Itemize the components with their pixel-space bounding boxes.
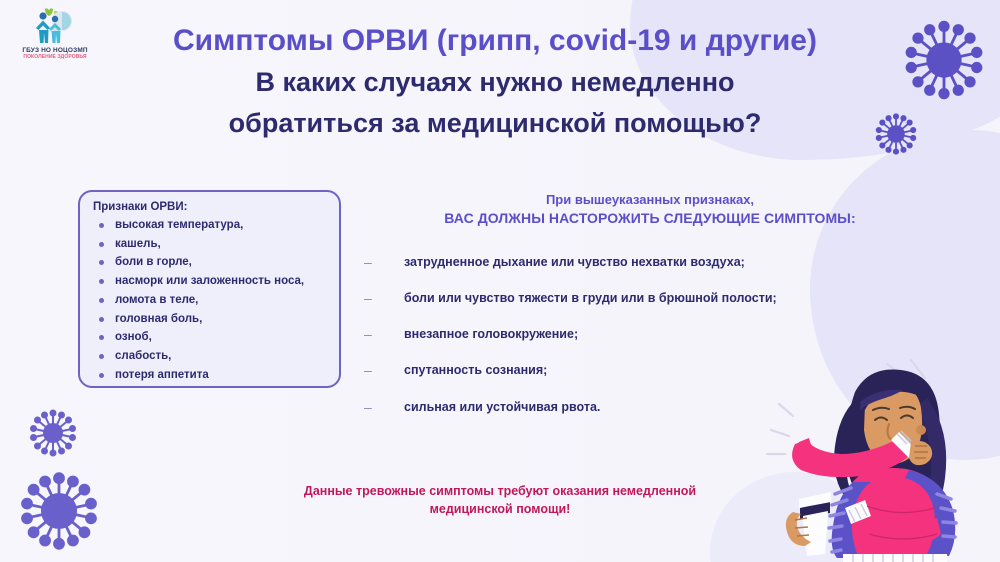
virus-icon — [874, 112, 918, 161]
list-item: внезапное головокружение; — [360, 325, 888, 343]
list-item: сильная или устойчивая рвота. — [360, 398, 888, 416]
list-item: слабость, — [93, 347, 327, 366]
health-family-logo-icon — [12, 6, 98, 46]
page-subtitle-line-2: обратиться за медицинской помощью? — [95, 106, 895, 142]
list-item: насморк или заложенность носа, — [93, 272, 327, 291]
symptoms-list: высокая температура, кашель, боли в горл… — [93, 216, 327, 385]
list-item: ломота в теле, — [93, 291, 327, 310]
list-item: боли или чувство тяжести в груди или в б… — [360, 289, 888, 307]
organization-logo: ГБУЗ НО НОЦОЗМП ПОКОЛЕНИЕ ЗДОРОВЬЯ — [12, 6, 98, 60]
list-item: спутанность сознания; — [360, 361, 888, 379]
list-item: боли в горле, — [93, 253, 327, 272]
footer-line-1: Данные тревожные симптомы требуют оказан… — [0, 482, 1000, 500]
footer-warning: Данные тревожные симптомы требуют оказан… — [0, 482, 1000, 518]
list-item: высокая температура, — [93, 216, 327, 235]
warning-heading-line-2: ВАС ДОЛЖНЫ НАСТОРОЖИТЬ СЛЕДУЮЩИЕ СИМПТОМ… — [360, 210, 940, 226]
page-title-block: Симптомы ОРВИ (грипп, covid-19 и другие)… — [95, 24, 895, 142]
page-title: Симптомы ОРВИ (грипп, covid-19 и другие) — [95, 24, 895, 59]
list-item: кашель, — [93, 235, 327, 254]
symptoms-card: Признаки ОРВИ: высокая температура, каше… — [78, 190, 341, 388]
warning-section: При вышеуказанных признаках, ВАС ДОЛЖНЫ … — [360, 192, 940, 434]
list-item: головная боль, — [93, 310, 327, 329]
page-subtitle-line-1: В каких случаях нужно немедленно — [95, 65, 895, 101]
virus-icon — [28, 408, 78, 463]
list-item: озноб, — [93, 328, 327, 347]
virus-icon — [18, 470, 100, 557]
list-item: затрудненное дыхание или чувство нехватк… — [360, 253, 888, 271]
symptoms-card-title: Признаки ОРВИ: — [93, 201, 327, 213]
virus-icon — [902, 18, 986, 107]
logo-organization-name: ГБУЗ НО НОЦОЗМП — [12, 47, 98, 54]
warning-list: затрудненное дыхание или чувство нехватк… — [360, 253, 940, 416]
warning-heading-line-1: При вышеуказанных признаках, — [360, 192, 940, 207]
list-item: потеря аппетита — [93, 366, 327, 385]
footer-line-2: медицинской помощи! — [0, 500, 1000, 518]
logo-tagline: ПОКОЛЕНИЕ ЗДОРОВЬЯ — [12, 54, 98, 60]
